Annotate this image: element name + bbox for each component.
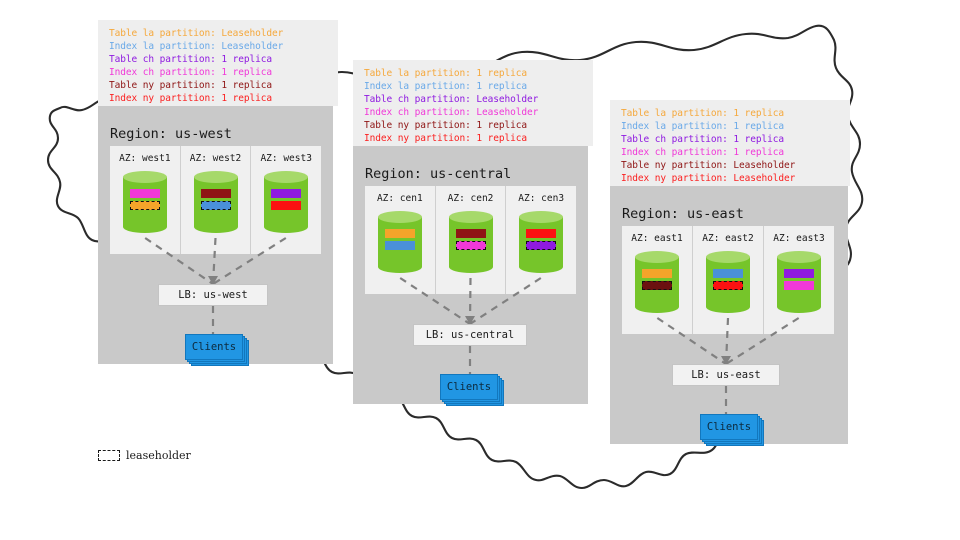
clients-label[interactable]: Clients: [700, 414, 758, 440]
leaseholder-legend: leaseholder: [98, 449, 191, 462]
az-to-lb-connectors: [353, 146, 588, 404]
partition-legend-line: Table ch partition: Leaseholder: [364, 93, 583, 106]
partition-legend-line: Index la partition: 1 replica: [621, 120, 840, 133]
region-panel-us-east: Region: us-eastAZ: east1AZ: east2AZ: eas…: [610, 186, 848, 444]
load-balancer-us-west[interactable]: LB: us-west: [158, 284, 268, 306]
partition-legend-line: Index ny partition: Leaseholder: [621, 172, 840, 185]
partition-legend-line: Table ch partition: 1 replica: [621, 133, 840, 146]
partition-legend-line: Index la partition: Leaseholder: [109, 40, 328, 53]
partition-legend-us-west: Table la partition: LeaseholderIndex la …: [98, 20, 338, 106]
clients-label[interactable]: Clients: [185, 334, 243, 360]
diagram-canvas: leaseholder Table la partition: Leasehol…: [0, 0, 960, 540]
partition-legend-line: Table ny partition: 1 replica: [109, 79, 328, 92]
clients-stack-us-central[interactable]: Clients: [440, 374, 504, 406]
partition-legend-us-central: Table la partition: 1 replicaIndex la pa…: [353, 60, 593, 146]
partition-legend-line: Index ch partition: 1 replica: [109, 66, 328, 79]
leaseholder-legend-label: leaseholder: [126, 449, 191, 462]
partition-legend-line: Index ch partition: 1 replica: [621, 146, 840, 159]
az-to-lb-connectors: [610, 186, 848, 444]
region-panel-us-west: Region: us-westAZ: west1AZ: west2AZ: wes…: [98, 106, 333, 364]
region-panel-us-central: Region: us-centralAZ: cen1AZ: cen2AZ: ce…: [353, 146, 588, 404]
clients-stack-us-west[interactable]: Clients: [185, 334, 249, 366]
partition-legend-line: Table la partition: Leaseholder: [109, 27, 328, 40]
partition-legend-line: Index ny partition: 1 replica: [109, 92, 328, 105]
region-cluster-us-east: Table la partition: 1 replicaIndex la pa…: [610, 100, 848, 444]
load-balancer-us-east[interactable]: LB: us-east: [672, 364, 780, 386]
partition-legend-us-east: Table la partition: 1 replicaIndex la pa…: [610, 100, 850, 186]
partition-legend-line: Table ny partition: Leaseholder: [621, 159, 840, 172]
region-cluster-us-west: Table la partition: LeaseholderIndex la …: [98, 20, 333, 364]
partition-legend-line: Table ny partition: 1 replica: [364, 119, 583, 132]
az-to-lb-connectors: [98, 106, 333, 364]
partition-legend-line: Index ch partition: Leaseholder: [364, 106, 583, 119]
partition-legend-line: Index ny partition: 1 replica: [364, 132, 583, 145]
partition-legend-line: Index la partition: 1 replica: [364, 80, 583, 93]
load-balancer-us-central[interactable]: LB: us-central: [413, 324, 527, 346]
partition-legend-line: Table ch partition: 1 replica: [109, 53, 328, 66]
clients-stack-us-east[interactable]: Clients: [700, 414, 764, 446]
partition-legend-line: Table la partition: 1 replica: [621, 107, 840, 120]
region-cluster-us-central: Table la partition: 1 replicaIndex la pa…: [353, 60, 588, 404]
partition-legend-line: Table la partition: 1 replica: [364, 67, 583, 80]
leaseholder-swatch-icon: [98, 450, 120, 461]
clients-label[interactable]: Clients: [440, 374, 498, 400]
